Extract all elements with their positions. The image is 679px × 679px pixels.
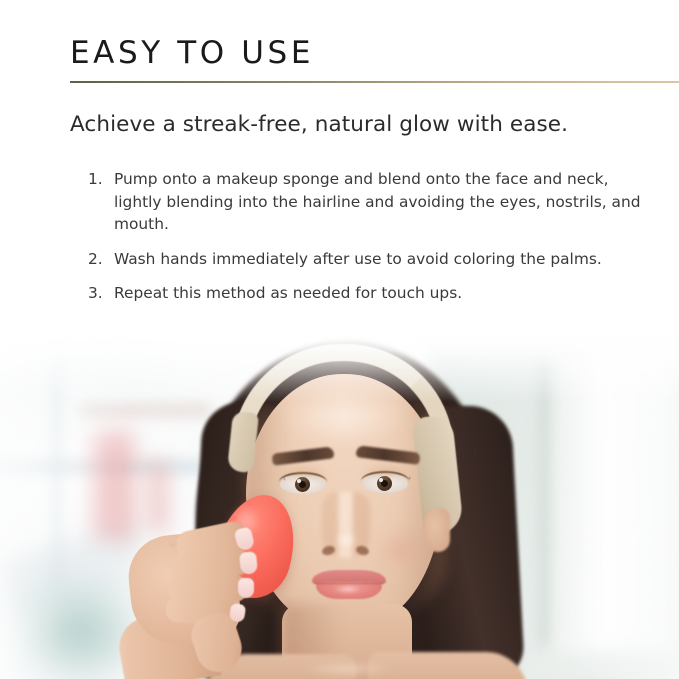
list-item-number: 3.	[88, 282, 114, 305]
fingernail	[238, 578, 254, 598]
list-item-number: 1.	[88, 168, 114, 236]
list-item-text: Wash hands immediately after use to avoi…	[114, 248, 648, 271]
instructions-section: EASY TO USE Achieve a streak-free, natur…	[0, 0, 679, 340]
list-item-number: 2.	[88, 248, 114, 271]
instruction-list: 1. Pump onto a makeup sponge and blend o…	[88, 168, 648, 317]
page-title: EASY TO USE	[70, 33, 314, 73]
lip-highlight	[334, 586, 362, 593]
lip-line	[314, 583, 384, 585]
eyeshadow	[278, 464, 330, 478]
list-item: 3. Repeat this method as needed for touc…	[88, 282, 648, 305]
ear	[424, 508, 450, 552]
list-item-text: Repeat this method as needed for touch u…	[114, 282, 648, 305]
list-item-text: Pump onto a makeup sponge and blend onto…	[114, 168, 648, 236]
lips	[312, 570, 386, 600]
page-subtitle: Achieve a streak-free, natural glow with…	[70, 110, 568, 140]
lifestyle-photo	[0, 332, 679, 679]
list-item: 2. Wash hands immediately after use to a…	[88, 248, 648, 271]
hand-holding-sponge	[120, 482, 310, 679]
collarbone-highlight	[300, 662, 396, 676]
nose-highlight	[334, 532, 358, 548]
product-detail-page: EASY TO USE Achieve a streak-free, natur…	[0, 0, 679, 679]
eye-right	[362, 473, 408, 493]
cheek-blush	[372, 528, 428, 570]
hair-wisps	[457, 449, 554, 655]
list-item: 1. Pump onto a makeup sponge and blend o…	[88, 168, 648, 236]
title-divider	[70, 81, 679, 83]
photo-canvas	[0, 332, 679, 679]
eyeshadow	[360, 463, 412, 477]
photo-top-fade	[0, 332, 679, 402]
